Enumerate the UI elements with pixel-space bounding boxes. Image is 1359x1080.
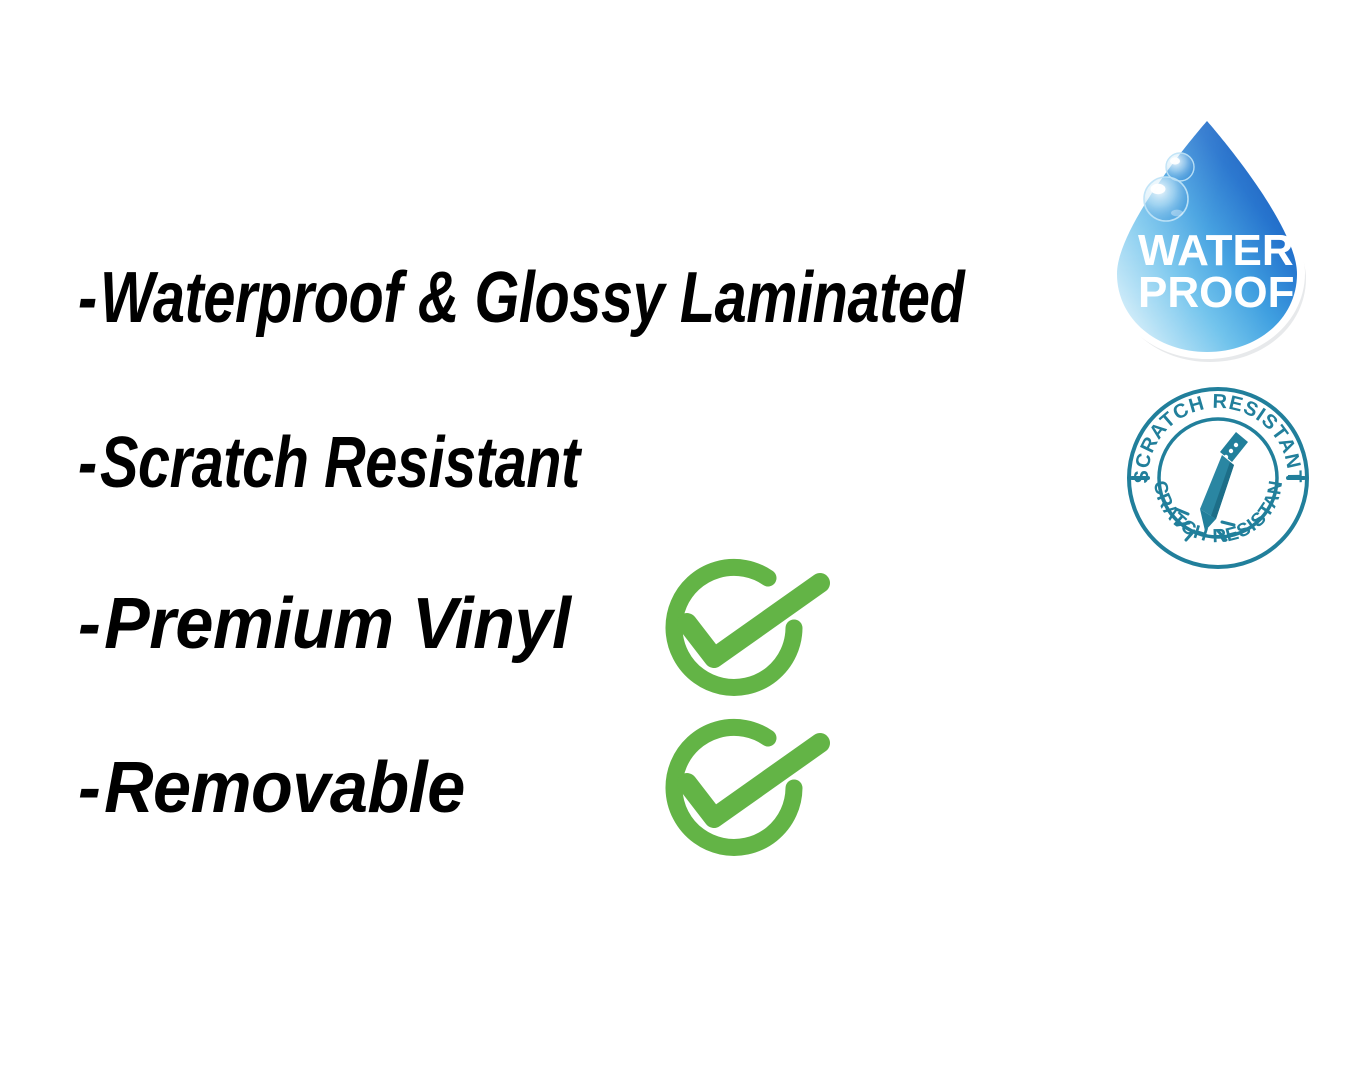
- scratch-resistant-stamp: SCRATCH RESISTANT SCRATCH RESISTANT: [1126, 386, 1310, 570]
- check-tick: [687, 583, 820, 658]
- checkmark-premium-vinyl: [640, 556, 836, 706]
- feature-item-waterproof: -Waterproof & Glossy Laminated: [78, 262, 964, 334]
- feature-bullet-dash: -: [78, 262, 97, 334]
- feature-item-removable: -Removable: [78, 752, 465, 824]
- checkmark-removable: [640, 716, 836, 866]
- feature-bullet-dash: -: [78, 588, 100, 660]
- feature-label: Removable: [104, 748, 465, 828]
- feature-label: Premium Vinyl: [104, 584, 570, 664]
- feature-list-graphic: -Waterproof & Glossy Laminated -Scratch …: [0, 0, 1359, 1080]
- waterproof-badge: WATER PROOF: [1098, 103, 1316, 365]
- feature-label: Scratch Resistant: [100, 423, 580, 503]
- feature-bullet-dash: -: [78, 752, 100, 824]
- feature-item-scratch-resistant: -Scratch Resistant: [78, 427, 580, 499]
- drop-bubble-large: [1144, 177, 1188, 221]
- water-drop-icon: WATER PROOF: [1098, 103, 1316, 365]
- feature-bullet-dash: -: [78, 427, 97, 499]
- waterproof-text-line2: PROOF: [1138, 268, 1294, 317]
- check-circle-icon: [640, 556, 836, 706]
- check-circle-icon: [640, 716, 836, 866]
- check-tick: [687, 743, 820, 818]
- scratch-resistant-badge: SCRATCH RESISTANT SCRATCH RESISTANT: [1126, 386, 1310, 570]
- feature-item-premium-vinyl: -Premium Vinyl: [78, 588, 571, 660]
- feature-label: Waterproof & Glossy Laminated: [100, 258, 964, 338]
